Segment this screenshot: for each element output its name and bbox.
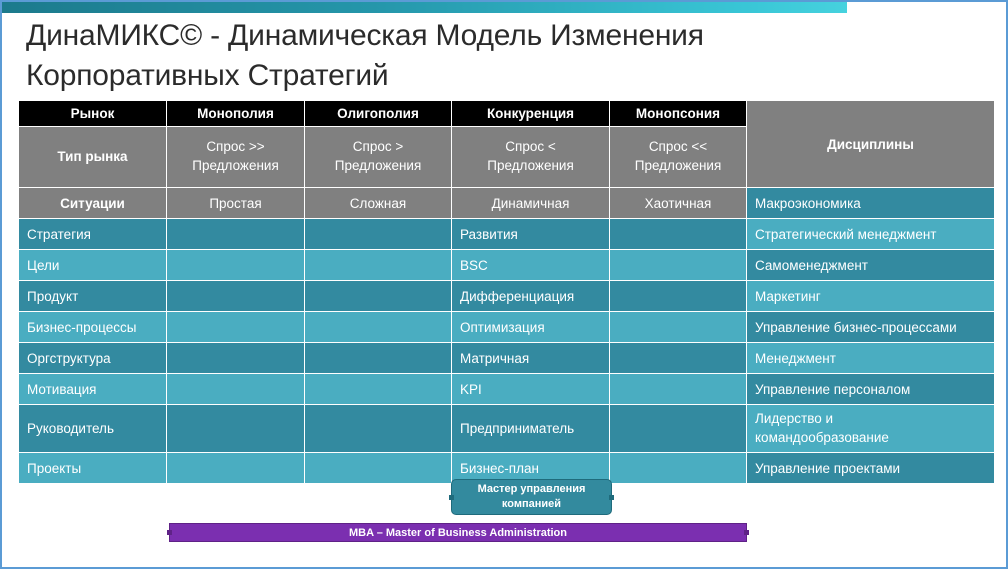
monopoly-cell-1 [167, 250, 305, 281]
discipline-cell-5: Менеджмент [747, 343, 995, 374]
table-row: Цели BSC Самоменеджмент [19, 250, 995, 281]
header-cell-oligopoly: Олигополия [305, 101, 452, 127]
competition-cell-4: Матричная [452, 343, 610, 374]
market-type-label: Тип рынка [19, 127, 167, 188]
table-row: Бизнес-процессы Оптимизация Управление б… [19, 312, 995, 343]
page-title: ДинаМИКС© - Динамическая Модель Изменени… [26, 16, 926, 95]
slide-root: ДинаМИКС© - Динамическая Модель Изменени… [0, 0, 1008, 569]
discipline-cell-6: Управление персоналом [747, 374, 995, 405]
table-row: Продукт Дифференциация Маркетинг [19, 281, 995, 312]
monopoly-cell-5 [167, 374, 305, 405]
strategy-matrix-table: Рынок Монополия Олигополия Конкуренция М… [18, 100, 995, 484]
oligopoly-cell-6 [305, 405, 452, 453]
aspect-cell-3: Бизнес-процессы [19, 312, 167, 343]
monopoly-cell-2 [167, 281, 305, 312]
aspect-cell-2: Продукт [19, 281, 167, 312]
situations-value-1: Сложная [305, 188, 452, 219]
oligopoly-cell-4 [305, 343, 452, 374]
header-cell-monopsony: Монопсония [610, 101, 747, 127]
competition-cell-0: Развития [452, 219, 610, 250]
aspect-cell-0: Стратегия [19, 219, 167, 250]
discipline-cell-3: Маркетинг [747, 281, 995, 312]
top-accent-bar [2, 2, 847, 13]
aspect-cell-7: Проекты [19, 453, 167, 484]
mba-banner: MBA – Master of Business Administration [169, 523, 747, 542]
monopsony-cell-1 [610, 250, 747, 281]
oligopoly-cell-5 [305, 374, 452, 405]
situations-value-3: Хаотичная [610, 188, 747, 219]
monopoly-cell-0 [167, 219, 305, 250]
market-type-value-2: Спрос < Предложения [452, 127, 610, 188]
monopoly-cell-3 [167, 312, 305, 343]
oligopoly-cell-3 [305, 312, 452, 343]
situations-value-0: Простая [167, 188, 305, 219]
discipline-cell-4: Управление бизнес-процессами [747, 312, 995, 343]
oligopoly-cell-1 [305, 250, 452, 281]
monopoly-cell-7 [167, 453, 305, 484]
header-cell-monopoly: Монополия [167, 101, 305, 127]
market-type-value-1: Спрос > Предложения [305, 127, 452, 188]
oligopoly-cell-7 [305, 453, 452, 484]
header-cell-competition: Конкуренция [452, 101, 610, 127]
market-type-value-3: Спрос << Предложения [610, 127, 747, 188]
discipline-cell-8: Управление проектами [747, 453, 995, 484]
competition-cell-5: KPI [452, 374, 610, 405]
monopsony-cell-2 [610, 281, 747, 312]
monopsony-cell-5 [610, 374, 747, 405]
discipline-cell-7: Лидерство и командообразование [747, 405, 995, 453]
table-row: Оргструктура Матричная Менеджмент [19, 343, 995, 374]
situations-value-2: Динамичная [452, 188, 610, 219]
table-row: Руководитель Предприниматель Лидерство и… [19, 405, 995, 453]
oligopoly-cell-2 [305, 281, 452, 312]
monopsony-cell-6 [610, 405, 747, 453]
situations-label: Ситуации [19, 188, 167, 219]
monopsony-cell-0 [610, 219, 747, 250]
discipline-cell-1: Стратегический менеджмент [747, 219, 995, 250]
monopsony-cell-3 [610, 312, 747, 343]
competition-cell-6: Предприниматель [452, 405, 610, 453]
situations-row: Ситуации Простая Сложная Динамичная Хаот… [19, 188, 995, 219]
competition-cell-1: BSC [452, 250, 610, 281]
header-cell-disciplines: Дисциплины [747, 101, 995, 188]
aspect-cell-5: Мотивация [19, 374, 167, 405]
monopsony-cell-4 [610, 343, 747, 374]
header-cell-market: Рынок [19, 101, 167, 127]
monopsony-cell-7 [610, 453, 747, 484]
aspect-cell-1: Цели [19, 250, 167, 281]
monopoly-cell-4 [167, 343, 305, 374]
table-row: Мотивация KPI Управление персоналом [19, 374, 995, 405]
discipline-cell-2: Самоменеджмент [747, 250, 995, 281]
aspect-cell-6: Руководитель [19, 405, 167, 453]
table-header-row: Рынок Монополия Олигополия Конкуренция М… [19, 101, 995, 127]
monopoly-cell-6 [167, 405, 305, 453]
oligopoly-cell-0 [305, 219, 452, 250]
market-type-value-0: Спрос >> Предложения [167, 127, 305, 188]
aspect-cell-4: Оргструктура [19, 343, 167, 374]
table-row: Стратегия Развития Стратегический менедж… [19, 219, 995, 250]
competition-cell-2: Дифференциация [452, 281, 610, 312]
master-management-box: Мастер управления компанией [451, 479, 612, 515]
discipline-cell-0: Макроэкономика [747, 188, 995, 219]
competition-cell-3: Оптимизация [452, 312, 610, 343]
